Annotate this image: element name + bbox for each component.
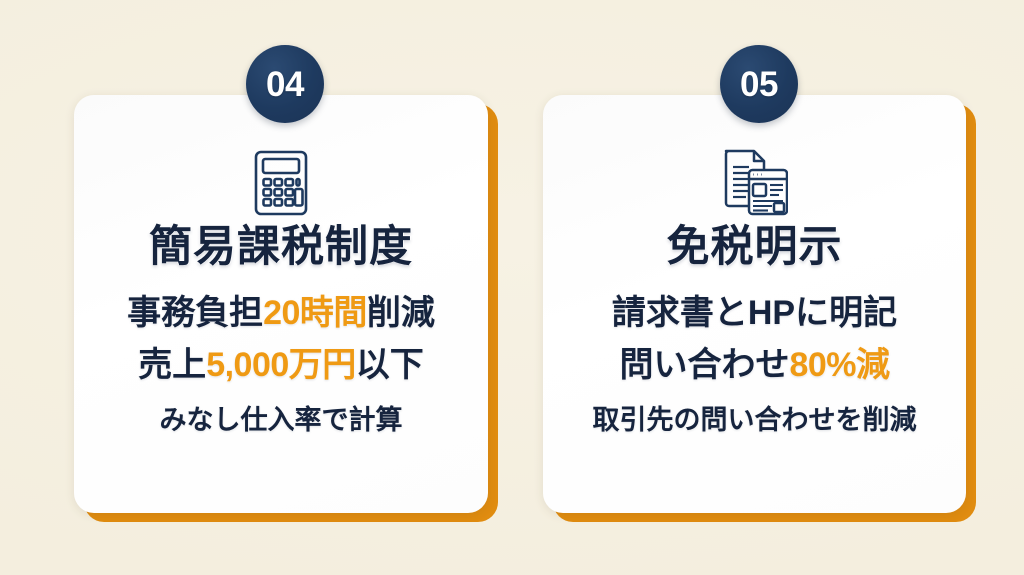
stat-line-1-part-3: 削減 (367, 294, 435, 332)
stat-line-2-highlight: 80% (789, 346, 856, 384)
stat-line-1-part-1: 事務負担 (127, 294, 263, 332)
calculator-icon (253, 147, 309, 219)
card-number-badge: 05 (720, 45, 798, 123)
card-title: 簡易課税制度 (149, 225, 413, 271)
card-stat-lines: 事務負担20時間削減 売上5,000万円以下 みなし仕入率で計算 (127, 287, 435, 440)
card-subline: 取引先の問い合わせを削減 (593, 402, 917, 440)
card-number-label: 05 (740, 67, 778, 102)
card-subline: みなし仕入率で計算 (159, 402, 402, 440)
stat-line-2-part-3: 以下 (356, 346, 424, 384)
card-number-badge: 04 (246, 45, 324, 123)
card-title: 免税明示 (667, 225, 843, 271)
stat-line-1: 請求書とHPに明記 (612, 287, 897, 340)
stat-line-2-part-1: 売上 (138, 346, 206, 384)
slide-canvas: 簡易課税制度 事務負担20時間削減 売上5,000万円以下 みなし仕入率で計算 … (0, 0, 1024, 575)
card-surface: 免税明示 請求書とHPに明記 問い合わせ80%減 取引先の問い合わせを削減 (543, 95, 966, 513)
stat-line-2-highlight: 5,000万円 (206, 346, 356, 384)
stat-line-1-part-1: 請求書とHPに明記 (612, 294, 897, 332)
card-number-label: 04 (266, 67, 304, 102)
stat-line-2-part-1: 問い合わせ (619, 346, 789, 384)
stat-line-2-part-3: 減 (856, 346, 890, 384)
feature-card-04[interactable]: 簡易課税制度 事務負担20時間削減 売上5,000万円以下 みなし仕入率で計算 … (74, 95, 488, 513)
card-surface: 簡易課税制度 事務負担20時間削減 売上5,000万円以下 みなし仕入率で計算 (74, 95, 488, 513)
stat-line-1-highlight: 20時間 (263, 294, 367, 332)
stat-line-2: 売上5,000万円以下 (138, 339, 424, 392)
document-webpage-icon (722, 147, 788, 219)
stat-line-1: 事務負担20時間削減 (127, 287, 435, 340)
stat-line-2: 問い合わせ80%減 (619, 339, 889, 392)
feature-card-05[interactable]: 免税明示 請求書とHPに明記 問い合わせ80%減 取引先の問い合わせを削減 05 (543, 95, 966, 513)
card-stat-lines: 請求書とHPに明記 問い合わせ80%減 取引先の問い合わせを削減 (593, 287, 917, 440)
